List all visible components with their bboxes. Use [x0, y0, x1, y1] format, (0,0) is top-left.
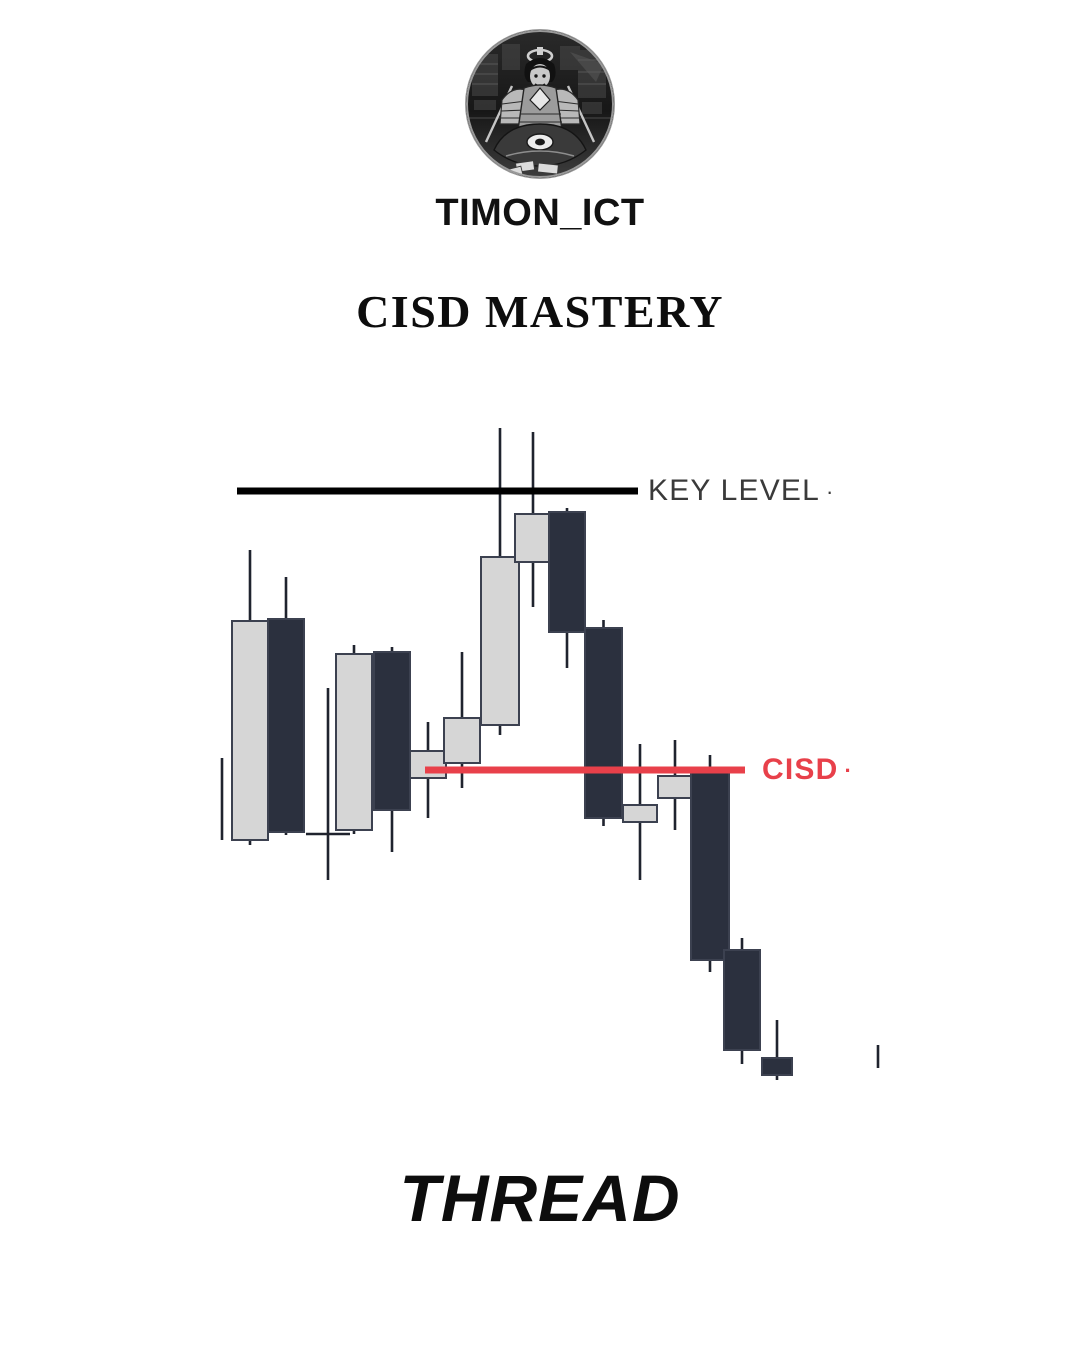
candle-body-bullish — [515, 514, 551, 562]
candle-body-bearish — [268, 619, 304, 832]
account-handle: TIMON_ICT — [0, 192, 1080, 235]
candle-body-bullish — [336, 654, 372, 830]
key-level-label-text: KEY LEVEL — [648, 474, 820, 507]
candle-body-bullish — [623, 805, 657, 822]
candle-body-bearish — [374, 652, 410, 810]
samurai-avatar-icon — [466, 30, 614, 178]
candle-body-bullish — [481, 557, 519, 725]
candle-body-bearish — [724, 950, 760, 1050]
cisd-label: CISD· — [762, 753, 853, 787]
candle-body-bearish — [549, 512, 585, 632]
chart-svg — [0, 410, 1080, 1110]
candle-body-bullish — [658, 776, 692, 798]
candle-body-bullish — [444, 718, 480, 763]
avatar[interactable] — [466, 30, 614, 178]
page-title: CISD MASTERY — [0, 285, 1080, 338]
candle-body-bearish — [762, 1058, 792, 1075]
key-level-label: KEY LEVEL· — [648, 474, 835, 508]
cisd-dot: · — [838, 758, 853, 783]
candle-body-bullish — [410, 751, 446, 778]
cisd-label-text: CISD — [762, 753, 838, 786]
key-level-dot: · — [820, 479, 835, 504]
candle-body-bearish — [585, 628, 622, 818]
candlestick-chart — [0, 410, 1080, 1110]
post-canvas: TIMON_ICT CISD MASTERY KEY LEVEL· CISD· … — [0, 0, 1080, 1350]
thread-cta: THREAD — [0, 1160, 1080, 1236]
avatar-container — [0, 30, 1080, 178]
candle-body-bullish — [232, 621, 268, 840]
candle-body-bearish — [691, 772, 729, 960]
